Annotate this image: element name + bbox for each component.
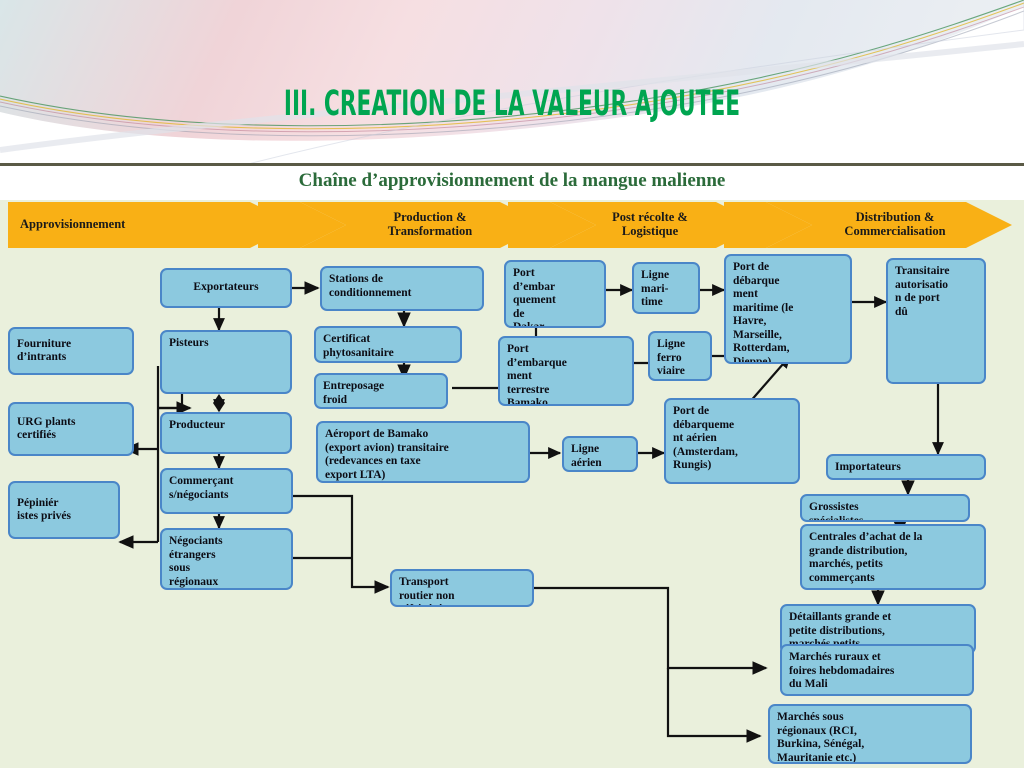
node-producteur[interactable]: Producteur [160,412,292,454]
node-transitaire[interactable]: Transitaireautorisation de portdû [886,258,986,384]
stage-label-production-line2: Transformation [330,224,530,238]
node-importateurs[interactable]: Importateurs [826,454,986,480]
stage-label-postrecolte: Post récolte & Logistique [555,210,745,238]
node-pisteurs[interactable]: Pisteurs [160,330,292,394]
stage-label-production-line1: Production & [330,210,530,224]
node-ligne-maritime[interactable]: Lignemari-time [632,262,700,314]
stage-banner: Approvisionnement Production & Transform… [0,200,1024,250]
slide-header: III. CREATION DE LA VALEUR AJOUTEE [0,0,1024,166]
node-ligne-ferroviaire[interactable]: Ligneferroviaire [648,331,712,381]
node-certificat-phytosanitaire[interactable]: Certificatphytosanitaire [314,326,462,363]
node-urg-plants[interactable]: URG plantscertifiés [8,402,134,456]
node-fourniture-intrants[interactable]: Fournitured’intrants [8,327,134,375]
node-marches-sous-regionaux[interactable]: Marchés sousrégionaux (RCI,Burkina, Séné… [768,704,972,764]
node-centrales-achat[interactable]: Centrales d’achat de lagrande distributi… [800,524,986,590]
diagram-subtitle: Chaîne d’approvisionnement de la mangue … [0,170,1024,192]
page-title: III. CREATION DE LA VALEUR AJOUTEE [195,84,830,124]
stage-label-distribution-line2: Commercialisation [790,224,1000,238]
stage-label-distribution: Distribution & Commercialisation [790,210,1000,238]
node-commercants-negociants[interactable]: Commerçants/négociants [160,468,293,514]
stage-label-approvisionnement: Approvisionnement [20,217,250,231]
node-port-debarquement-maritime[interactable]: Port dedébarquementmaritime (leHavre,Mar… [724,254,852,364]
node-ligne-aerien[interactable]: Ligneaérien [562,436,638,472]
supply-chain-diagram: Chaîne d’approvisionnement de la mangue … [0,166,1024,768]
node-negociants-etrangers[interactable]: Négociantsétrangerssousrégionaux [160,528,293,590]
node-stations-conditionnement[interactable]: Stations deconditionnement [320,266,484,311]
stage-label-production: Production & Transformation [330,210,530,238]
stage-label-distribution-line1: Distribution & [790,210,1000,224]
node-marches-ruraux[interactable]: Marchés ruraux etfoires hebdomadairesdu … [780,644,974,696]
node-aeroport-bamako[interactable]: Aéroport de Bamako(export avion) transit… [316,421,530,483]
node-port-debarquement-aerien[interactable]: Port dedébarquement aérien(Amsterdam,Run… [664,398,800,484]
stage-label-postrecolte-line2: Logistique [555,224,745,238]
node-transport-routier[interactable]: Transportroutier nonréfrigéré [390,569,534,607]
node-port-embarquement-bamako[interactable]: Portd’embarquementterrestreBamako [498,336,634,406]
header-swoosh-decoration [0,0,1024,166]
slide: III. CREATION DE LA VALEUR AJOUTEE Chaîn… [0,0,1024,768]
node-pepinieristes[interactable]: Pépiniéristes privés [8,481,120,539]
node-exportateurs[interactable]: Exportateurs [160,268,292,308]
node-port-embarquement-dakar[interactable]: Portd’embarquementdeDakar [504,260,606,328]
node-entreposage-froid[interactable]: Entreposagefroid [314,373,448,409]
node-grossistes-specialistes[interactable]: Grossistesspécialistes [800,494,970,522]
stage-label-postrecolte-line1: Post récolte & [555,210,745,224]
